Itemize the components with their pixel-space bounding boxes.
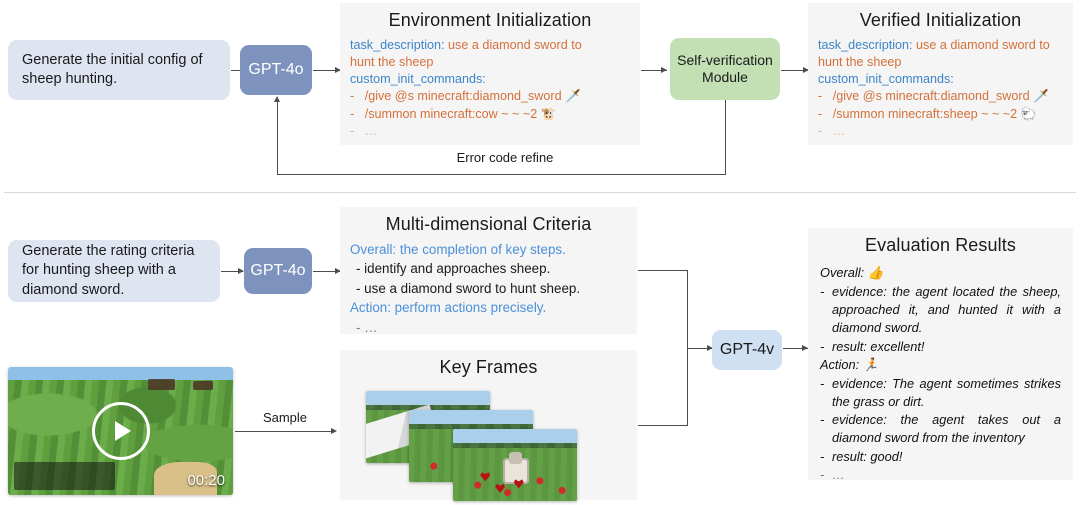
prompt-text: Generate the initial config of sheep hun… — [22, 51, 216, 89]
code-value: /give @s minecraft:diamond_sword — [365, 89, 562, 103]
code-key: task_description: — [350, 38, 445, 52]
evaluation-heading-text: Action: — [820, 357, 859, 372]
edge-feedback-vertical-right — [725, 100, 726, 174]
bullet-dash: - — [820, 411, 832, 447]
bullet-dash: - — [818, 124, 822, 138]
evaluation-text: evidence: The agent sometimes strikes th… — [832, 375, 1061, 411]
code-line: custom_init_commands: — [818, 71, 1063, 88]
panel-title: Key Frames — [340, 350, 637, 378]
evaluation-item: - result: excellent! — [820, 338, 1061, 356]
code-line: task_description: use a diamond sword to — [818, 37, 1063, 54]
evaluation-heading-text: Overall: — [820, 265, 864, 280]
play-icon[interactable] — [92, 402, 150, 460]
evaluation-item: - evidence: the agent located the sheep,… — [820, 283, 1061, 337]
criteria-line: Overall: the completion of key steps. — [350, 240, 627, 259]
model-label: GPT-4o — [248, 61, 303, 79]
edge-label-sample: Sample — [235, 410, 335, 425]
evaluation-item: - … — [820, 466, 1061, 484]
video-timecode: 00:20 — [187, 472, 225, 489]
panel-evaluation-results: Evaluation Results Overall: 👍 - evidence… — [808, 228, 1073, 480]
bullet-dash: - — [820, 375, 832, 411]
arrowhead — [661, 67, 667, 73]
bullet-dash: - — [820, 338, 832, 356]
panel-body: Overall: the completion of key steps. - … — [340, 235, 637, 341]
edge-keyframes-to-merge — [638, 425, 688, 426]
bullet-dash: - — [350, 124, 354, 138]
evaluation-text: … — [832, 466, 845, 484]
evaluation-text: evidence: the agent takes out a diamond … — [832, 411, 1061, 447]
code-line: - /give @s minecraft:diamond_sword 🗡️ — [818, 88, 1063, 105]
bullet-dash: - — [350, 107, 354, 121]
bullet-dash: - — [818, 89, 822, 103]
criteria-line: - use a diamond sword to hunt sheep. — [350, 279, 627, 298]
code-value: use a diamond sword to — [913, 38, 1050, 52]
criteria-item: - use a diamond sword to hunt sheep. — [356, 281, 580, 296]
model-label: GPT-4o — [250, 262, 305, 280]
code-line: - … — [350, 123, 630, 140]
code-value: hunt the sheep — [818, 55, 901, 69]
code-key: task_description: — [818, 38, 913, 52]
panel-verified-initialization: Verified Initialization task_description… — [808, 3, 1073, 145]
minecraft-hotbar — [14, 462, 115, 490]
code-key: custom_init_commands: — [818, 72, 954, 86]
verifier-label-line2: Module — [702, 69, 748, 87]
model-chip-gpt4o-bottom: GPT-4o — [244, 248, 312, 294]
running-person-icon: 🏃 — [863, 357, 879, 372]
prompt-box-initial-config: Generate the initial config of sheep hun… — [8, 40, 230, 100]
panel-body: task_description: use a diamond sword to… — [808, 31, 1073, 144]
criteria-line: Action: perform actions precisely. — [350, 298, 627, 317]
evaluation-heading: Action: 🏃 — [820, 356, 1061, 374]
prompt-text: Generate the rating criteria for hunting… — [22, 242, 206, 299]
criteria-line: - … — [350, 318, 627, 337]
code-line: task_description: use a diamond sword to — [350, 37, 630, 54]
code-line: - /summon minecraft:sheep ~ ~ ~2 🐑 — [818, 106, 1063, 123]
verifier-label-line1: Self-verification — [677, 52, 773, 70]
criteria-heading: Overall: the completion of key steps. — [350, 242, 566, 257]
code-line: - … — [818, 123, 1063, 140]
code-value: hunt the sheep — [350, 55, 433, 69]
code-line: custom_init_commands: — [350, 71, 630, 88]
evaluation-item: - evidence: The agent sometimes strikes … — [820, 375, 1061, 411]
prompt-box-rating-criteria: Generate the rating criteria for hunting… — [8, 240, 220, 302]
tree-decoration — [193, 381, 213, 390]
edge-video-to-keyframes — [235, 431, 335, 432]
panel-multi-dimensional-criteria: Multi-dimensional Criteria Overall: the … — [340, 207, 637, 334]
panel-environment-initialization: Environment Initialization task_descript… — [340, 3, 640, 145]
evaluation-text: evidence: the agent located the sheep, a… — [832, 283, 1061, 337]
bullet-dash: - — [820, 448, 832, 466]
panel-title: Multi-dimensional Criteria — [340, 207, 637, 235]
model-chip-gpt4o-top: GPT-4o — [240, 45, 312, 95]
code-value: … — [833, 124, 846, 138]
key-frame-thumbnail — [453, 429, 577, 501]
arrowhead — [274, 96, 280, 102]
edge-label-error-code-refine: Error code refine — [415, 150, 595, 165]
evaluation-item: - evidence: the agent takes out a diamon… — [820, 411, 1061, 447]
panel-title: Verified Initialization — [808, 3, 1073, 31]
criteria-line: - identify and approaches sheep. — [350, 259, 627, 278]
bullet-dash: - — [350, 89, 354, 103]
criteria-item: - … — [356, 320, 378, 335]
edge-feedback-horizontal — [277, 174, 726, 175]
code-value: use a diamond sword to — [445, 38, 582, 52]
edge-criteria-to-merge — [638, 270, 688, 271]
panel-body: Overall: 👍 - evidence: the agent located… — [808, 256, 1073, 484]
model-chip-gpt4v: GPT-4v — [712, 330, 782, 370]
code-line: - /give @s minecraft:diamond_sword 🗡️ — [350, 88, 630, 105]
self-verification-module: Self-verification Module — [670, 38, 780, 100]
panel-title: Environment Initialization — [340, 3, 640, 31]
pipeline-diagram: Generate the initial config of sheep hun… — [0, 0, 1080, 505]
code-key: custom_init_commands: — [350, 72, 486, 86]
evaluation-item: - result: good! — [820, 448, 1061, 466]
code-line: - /summon minecraft:cow ~ ~ ~2 🐮 — [350, 106, 630, 123]
code-value: … — [365, 124, 378, 138]
model-label: GPT-4v — [720, 341, 774, 359]
panel-body: task_description: use a diamond sword to… — [340, 31, 640, 144]
code-line: hunt the sheep — [350, 54, 630, 71]
thumbs-up-icon: 👍 — [868, 265, 884, 280]
arrowhead — [331, 428, 337, 434]
code-line: hunt the sheep — [818, 54, 1063, 71]
evaluation-text: result: good! — [832, 448, 902, 466]
edge-feedback-vertical-left — [277, 101, 278, 175]
sheep-icon: 🐑 — [1021, 107, 1037, 121]
evaluation-heading: Overall: 👍 — [820, 264, 1061, 282]
criteria-heading: Action: perform actions precisely. — [350, 300, 546, 315]
sword-icon: 🗡️ — [1033, 89, 1049, 103]
panel-key-frames: Key Frames — [340, 350, 637, 500]
criteria-item: - identify and approaches sheep. — [356, 261, 550, 276]
code-value: /give @s minecraft:diamond_sword — [833, 89, 1030, 103]
bullet-dash: - — [820, 283, 832, 337]
tree-decoration — [148, 379, 175, 391]
video-thumbnail[interactable]: 00:20 — [8, 367, 233, 495]
section-divider — [4, 192, 1076, 193]
code-value: /summon minecraft:cow ~ ~ ~2 — [365, 107, 538, 121]
code-value: /summon minecraft:sheep ~ ~ ~2 — [833, 107, 1017, 121]
sword-icon: 🗡️ — [565, 89, 581, 103]
bullet-dash: - — [820, 466, 832, 484]
cow-icon: 🐮 — [541, 107, 557, 121]
bullet-dash: - — [818, 107, 822, 121]
panel-title: Evaluation Results — [808, 228, 1073, 256]
evaluation-text: result: excellent! — [832, 338, 924, 356]
